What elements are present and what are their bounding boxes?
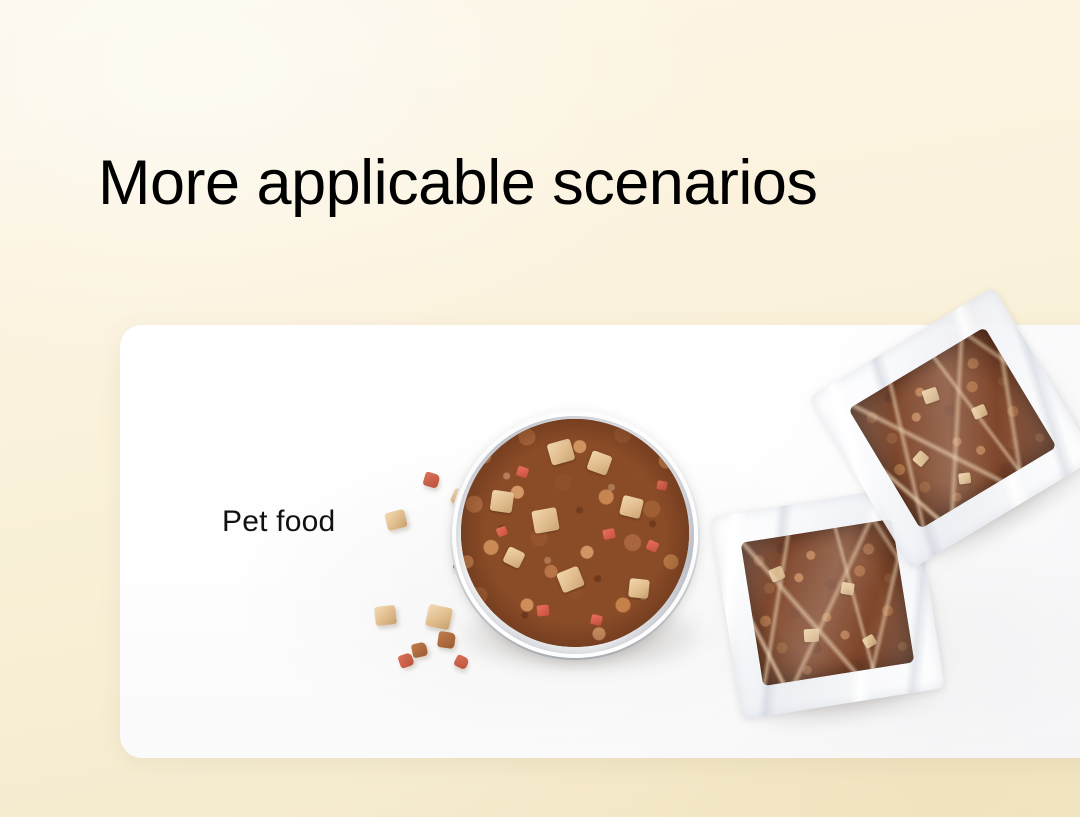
scatter-red-piece — [422, 471, 440, 489]
page-title: More applicable scenarios — [98, 152, 817, 215]
bag-contents — [741, 519, 915, 686]
kibble-cube — [628, 578, 650, 599]
scatter-piece — [411, 642, 429, 659]
bag-cube — [768, 565, 786, 582]
kibble-red-bit — [656, 480, 667, 491]
bag-cube — [971, 404, 989, 421]
kibble-red-bit — [536, 604, 549, 616]
kibble-cube — [490, 490, 515, 514]
kibble-bowl — [450, 410, 700, 675]
bag-cube — [912, 450, 930, 468]
bag-cube — [804, 629, 820, 643]
promo-scene: More applicable scenarios — [0, 0, 1080, 817]
kibble-grain — [461, 419, 689, 647]
scatter-cube — [374, 605, 397, 626]
bag-gloss — [741, 519, 915, 686]
bag-cube — [921, 387, 940, 405]
scatter-cube — [384, 509, 408, 531]
kibble-cube — [531, 507, 560, 534]
bag-cube — [862, 634, 878, 650]
scene-label-pet-food: Pet food — [222, 507, 335, 537]
bowl-contents — [461, 419, 689, 647]
bag-cube — [840, 582, 855, 596]
bag-cube — [958, 472, 971, 484]
scatter-cube — [425, 604, 453, 631]
